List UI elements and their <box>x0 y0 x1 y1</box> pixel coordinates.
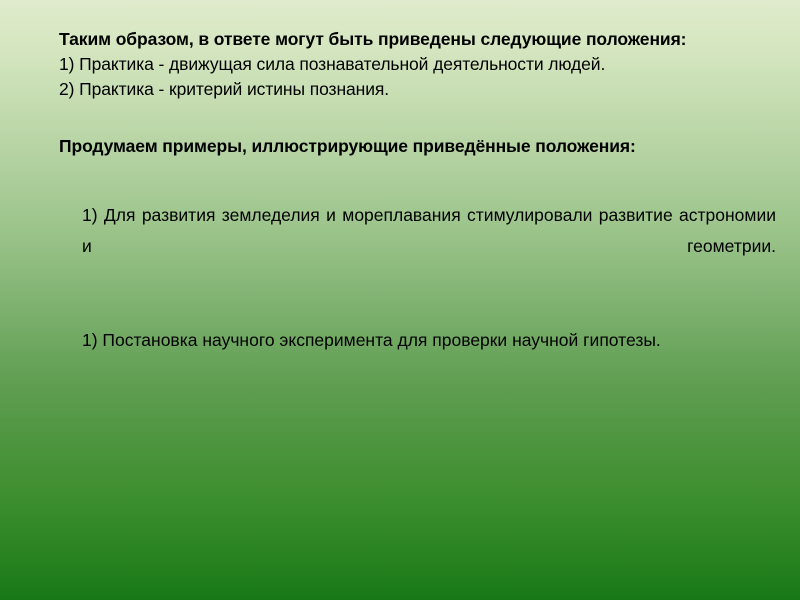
presentation-slide: Таким образом, в ответе могут быть приве… <box>0 0 800 600</box>
example-item-2: 1) Постановка научного эксперимента для … <box>82 325 776 356</box>
intro-point-2: 2) Практика - критерий истины познания. <box>59 77 759 102</box>
example-item-1: 1) Для развития земледелия и мореплавани… <box>82 200 776 293</box>
prompt-heading: Продумаем примеры, иллюстрирующие привед… <box>59 134 779 159</box>
examples-text-block: 1) Для развития земледелия и мореплавани… <box>82 200 776 356</box>
intro-heading: Таким образом, в ответе могут быть приве… <box>59 27 759 52</box>
intro-point-1: 1) Практика - движущая сила познавательн… <box>59 52 759 77</box>
intro-text-block: Таким образом, в ответе могут быть приве… <box>59 27 759 102</box>
